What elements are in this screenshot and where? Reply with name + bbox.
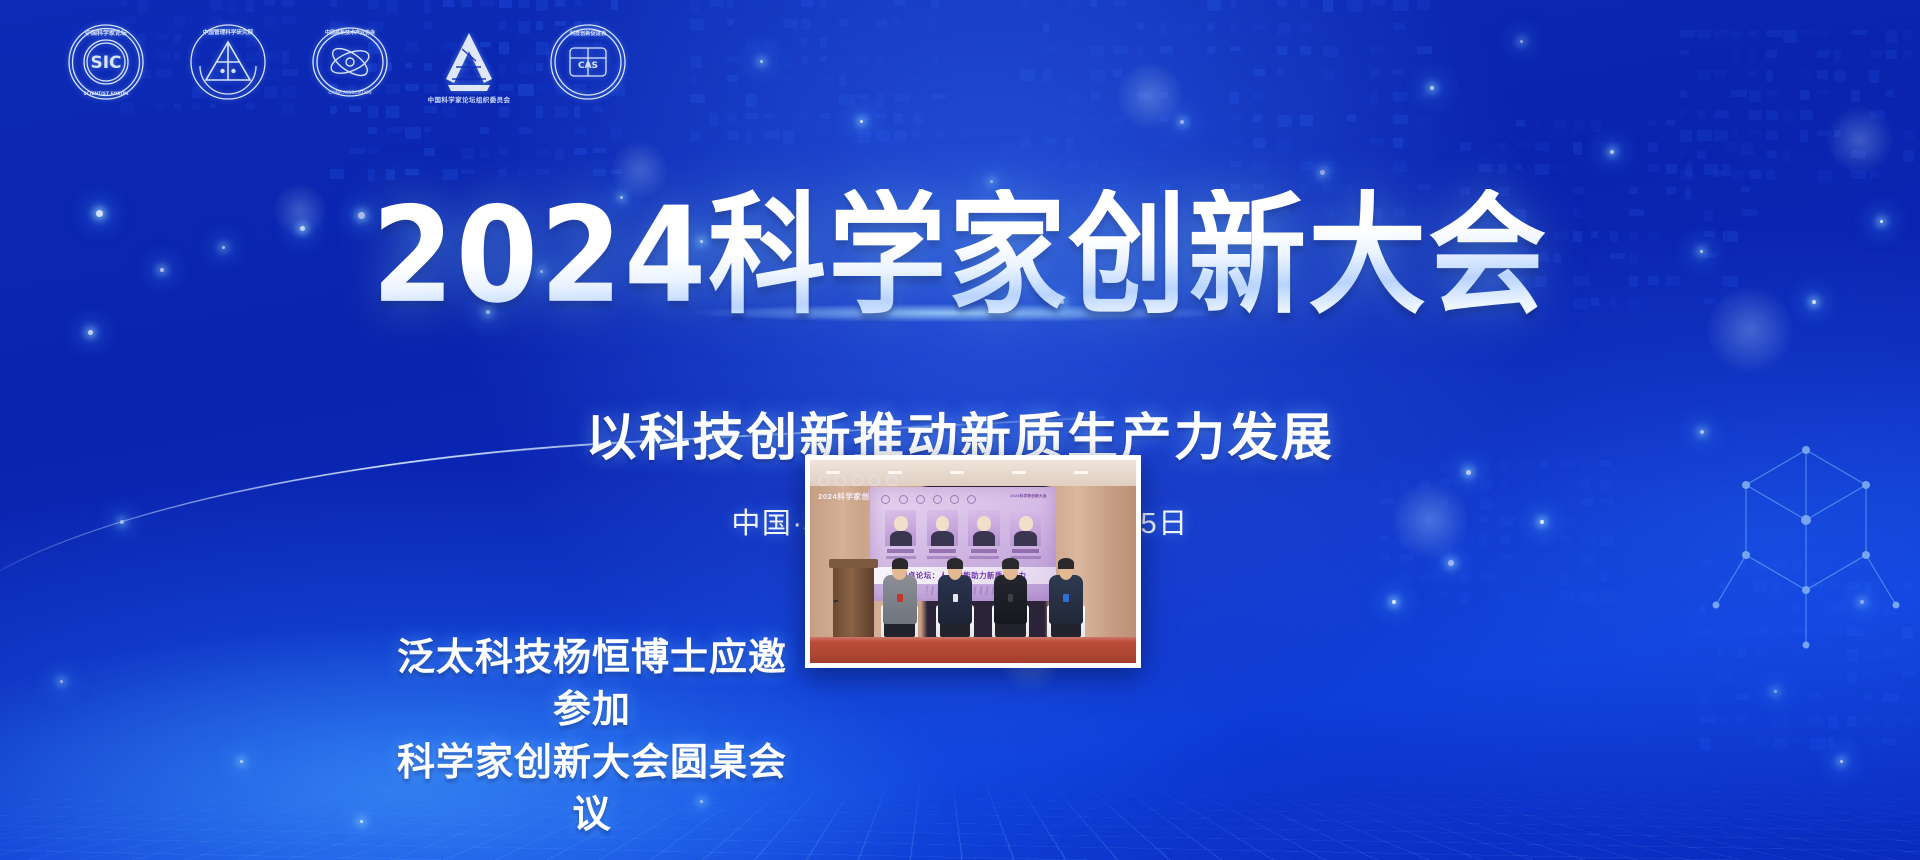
logo-round-badge: CAS 科技创新促进会 bbox=[548, 22, 628, 102]
svg-text:CAS: CAS bbox=[578, 61, 598, 71]
conference-banner: 中国科学家论坛 SCIENTIST FORUM SIC 中国管理科学研究院 bbox=[0, 0, 1920, 860]
svg-text:SCIENTIST FORUM: SCIENTIST FORUM bbox=[83, 91, 128, 97]
svg-text:中国管理科学研究院: 中国管理科学研究院 bbox=[203, 28, 254, 36]
logo-delta-caption: 中国科学家论坛组织委员会 bbox=[424, 94, 514, 104]
roundtable-panel-photo: 2024科学家创新大会 2024科学家创新大会 圆桌论坛：人工智能助力新质生产力 bbox=[805, 455, 1141, 668]
microphone-icon bbox=[834, 599, 839, 602]
svg-text:科技创新促进会: 科技创新促进会 bbox=[570, 29, 607, 37]
panelist-2 bbox=[934, 557, 976, 636]
svg-text:CHINA ASSOCIATION: CHINA ASSOCIATION bbox=[328, 90, 371, 95]
screen-brand-text: 2024科学家创新大会 bbox=[1010, 494, 1046, 499]
panelist-portraits bbox=[885, 510, 1041, 562]
logo-delta-mark: 中国科学家论坛组织委员会 bbox=[432, 22, 506, 102]
stage-floor bbox=[810, 637, 1136, 663]
svg-text:中国科学家论坛: 中国科学家论坛 bbox=[85, 29, 127, 37]
page-title: 2024科学家创新大会 bbox=[0, 196, 1920, 314]
panelist-4 bbox=[1045, 557, 1087, 636]
logo-atom-seal: 中国高新技术产业协会 CHINA ASSOCIATION bbox=[310, 22, 390, 102]
organizer-logo-row: 中国科学家论坛 SCIENTIST FORUM SIC 中国管理科学研究院 bbox=[66, 22, 628, 102]
panelist-1 bbox=[878, 557, 920, 636]
logo-triangle-seal: 中国管理科学研究院 bbox=[188, 22, 268, 102]
caption-line-1: 泛太科技杨恒博士应邀参加 bbox=[386, 632, 798, 737]
main-title-text: 2024科学家创新大会 bbox=[372, 189, 1548, 321]
caption-line-2: 科学家创新大会圆桌会议 bbox=[386, 737, 798, 842]
podium bbox=[833, 564, 874, 637]
event-caption: 泛太科技杨恒博士应邀参加 科学家创新大会圆桌会议 bbox=[386, 632, 798, 842]
panelist-3 bbox=[989, 557, 1031, 636]
logo-sic-seal: 中国科学家论坛 SCIENTIST FORUM SIC bbox=[66, 22, 146, 102]
svg-text:SIC: SIC bbox=[90, 53, 121, 73]
hall-icon-row bbox=[818, 475, 897, 486]
svg-text:中国高新技术产业协会: 中国高新技术产业协会 bbox=[325, 29, 375, 36]
